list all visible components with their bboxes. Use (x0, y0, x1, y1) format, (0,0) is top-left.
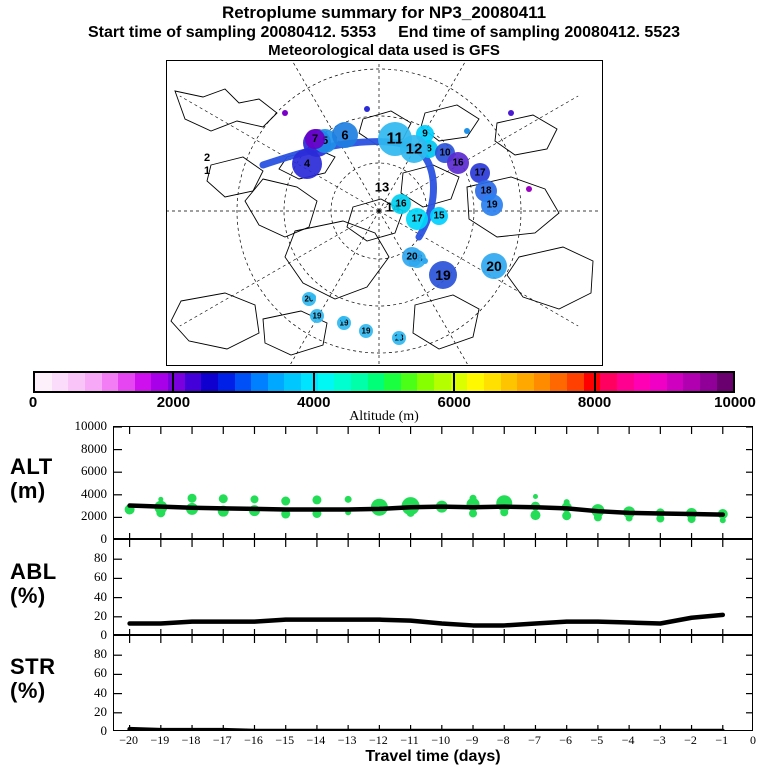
str-plot-panel[interactable] (113, 635, 753, 731)
map-day-label: 7 (312, 133, 318, 145)
colorbar-cell (534, 373, 551, 391)
sampling-times: Start time of sampling 20080412. 5353End… (0, 23, 768, 42)
alt-spread-marker (500, 508, 508, 516)
colorbar-separator (313, 371, 315, 393)
colorbar-cell (35, 373, 52, 391)
x-tick-label: −8 (497, 733, 510, 748)
x-tick-label: −6 (559, 733, 572, 748)
y-tick-label: 60 (45, 569, 107, 585)
alt-spread-marker (626, 514, 633, 521)
alt-spread-marker (188, 494, 197, 503)
colorbar-cell (467, 373, 484, 391)
x-tick-label: −14 (307, 733, 326, 748)
map-residue-dot (508, 110, 514, 116)
colorbar-cell (401, 373, 418, 391)
map-day-label: 17 (411, 214, 423, 225)
colorbar-cell (318, 373, 335, 391)
map-residue-dot (396, 334, 402, 340)
alt-plot-panel[interactable] (113, 426, 753, 539)
y-tick-label: 40 (45, 589, 107, 605)
x-tick-label: −10 (431, 733, 450, 748)
map-residue-dot (282, 110, 288, 116)
alt-spread-marker (312, 495, 321, 504)
y-tick-label: 20 (45, 608, 107, 624)
map-day-label: 4 (304, 158, 311, 170)
page-title: Retroplume summary for NP3_20080411 (0, 3, 768, 23)
alt-spread-marker (469, 509, 477, 517)
colorbar-cell (118, 373, 135, 391)
x-tick-label: −15 (275, 733, 294, 748)
map-day-label: 16 (452, 158, 464, 169)
y-tick-label: 60 (45, 665, 107, 681)
colorbar-cell (584, 373, 601, 391)
colorbar-cell (351, 373, 368, 391)
x-tick-label: −13 (338, 733, 357, 748)
y-tick-label: 40 (45, 685, 107, 701)
alt-spread-marker (281, 497, 290, 506)
colorbar-cell (600, 373, 617, 391)
alt-spread-marker (530, 510, 540, 520)
y-tick-label: 6000 (45, 463, 107, 479)
colorbar-cell (334, 373, 351, 391)
x-tick-label: 0 (750, 733, 756, 748)
y-tick-label: 20 (45, 704, 107, 720)
colorbar-title: Altitude (m) (0, 409, 768, 425)
y-tick-label: 4000 (45, 486, 107, 502)
colorbar-cell (85, 373, 102, 391)
y-tick-label: 0 (45, 627, 107, 643)
colorbar-cell (700, 373, 717, 391)
colorbar-cell (235, 373, 252, 391)
colorbar-separator (172, 371, 174, 393)
x-tick-label: −4 (622, 733, 635, 748)
map-day-label: 19 (313, 312, 322, 321)
colorbar-cell (417, 373, 434, 391)
y-tick-label: 0 (45, 531, 107, 547)
map-residue-dot (464, 128, 470, 134)
alt-spread-marker (156, 508, 165, 517)
colorbar-cell (617, 373, 634, 391)
map-day-label: 13 (375, 180, 389, 195)
map-day-label: 12 (406, 141, 423, 158)
alt-plot-svg (114, 427, 753, 539)
x-tick-label: −12 (369, 733, 388, 748)
colorbar-cell (151, 373, 168, 391)
alt-spread-marker (564, 499, 570, 505)
map-residue-dot (422, 258, 428, 264)
alt-spread-marker (345, 496, 352, 503)
colorbar-cell (102, 373, 119, 391)
colorbar-separator (594, 371, 596, 393)
abl-line (130, 615, 723, 626)
end-time-label: End time of sampling 20080412. 5523 (398, 24, 680, 41)
x-tick-label: −7 (528, 733, 541, 748)
alt-spread-marker (470, 495, 477, 502)
y-tick-label: 80 (45, 550, 107, 566)
map-residue-dot (340, 316, 346, 322)
map-svg: 1234567891011121314151617181920191817162… (167, 61, 601, 364)
y-tick-label: 80 (45, 646, 107, 662)
map-day-label: 16 (395, 199, 407, 210)
y-tick-label: 10000 (45, 418, 107, 434)
retroplume-map[interactable]: 1234567891011121314151617181920191817162… (166, 60, 603, 366)
alt-spread-marker (219, 494, 228, 503)
colorbar-separator (453, 371, 455, 393)
alt-spread-marker (533, 494, 538, 499)
str-line (130, 729, 723, 731)
alt-spread-marker (250, 495, 258, 503)
map-day-label: 19 (486, 200, 498, 211)
colorbar-cell (68, 373, 85, 391)
x-tick-label: −20 (119, 733, 138, 748)
colorbar-cell (434, 373, 451, 391)
abl-plot-svg (114, 540, 753, 635)
colorbar-cell (52, 373, 69, 391)
colorbar-cell (683, 373, 700, 391)
colorbar-cell (550, 373, 567, 391)
colorbar-cell (667, 373, 684, 391)
colorbar-cell (168, 373, 185, 391)
colorbar-cell (301, 373, 318, 391)
x-tick-label: −17 (213, 733, 232, 748)
map-day-label: 20 (406, 252, 418, 263)
alt-spread-marker (720, 517, 726, 523)
colorbar-cell (484, 373, 501, 391)
colorbar-cell (218, 373, 235, 391)
str-plot-svg (114, 636, 753, 731)
x-tick-label: −18 (182, 733, 201, 748)
map-residue-dot (526, 186, 532, 192)
alt-spread-marker (594, 513, 602, 521)
colorbar-cell (634, 373, 651, 391)
x-tick-label: −1 (715, 733, 728, 748)
start-time-label: Start time of sampling 20080412. 5353 (88, 24, 376, 41)
map-residue-dot (364, 106, 370, 112)
colorbar-cell (650, 373, 667, 391)
alt-spread-marker (562, 511, 571, 520)
colorbar-cell (517, 373, 534, 391)
colorbar-cell (368, 373, 385, 391)
map-day-label: 2 (204, 152, 210, 164)
map-day-label: 17 (474, 168, 486, 179)
altitude-colorbar[interactable] (33, 371, 735, 393)
x-tick-label: −5 (591, 733, 604, 748)
x-tick-label: −19 (150, 733, 169, 748)
colorbar-cell (717, 373, 734, 391)
x-tick-label: −3 (653, 733, 666, 748)
colorbar-cell (268, 373, 285, 391)
y-tick-label: 2000 (45, 508, 107, 524)
y-tick-label: 0 (45, 723, 107, 739)
map-day-label: 20 (486, 258, 502, 274)
colorbar-cell (251, 373, 268, 391)
colorbar-cell (135, 373, 152, 391)
map-day-label: 9 (422, 129, 428, 140)
x-tick-label: −11 (400, 733, 418, 748)
map-residue-dot (310, 294, 316, 300)
xaxis-title: Travel time (days) (113, 748, 753, 766)
colorbar-cell (201, 373, 218, 391)
abl-plot-panel[interactable] (113, 539, 753, 635)
alt-spread-marker (407, 509, 415, 517)
colorbar-cell (284, 373, 301, 391)
y-tick-label: 8000 (45, 441, 107, 457)
map-day-label: 19 (362, 327, 371, 336)
map-day-label: 1 (204, 165, 210, 177)
map-day-label: 6 (341, 128, 348, 143)
colorbar-cell (185, 373, 202, 391)
colorbar-cell (384, 373, 401, 391)
x-tick-label: −9 (466, 733, 479, 748)
colorbar-cell (501, 373, 518, 391)
x-tick-label: −16 (244, 733, 263, 748)
colorbar-cell (567, 373, 584, 391)
header-block: Retroplume summary for NP3_20080411 Star… (0, 0, 768, 60)
map-day-label: 19 (435, 267, 451, 283)
map-day-label: 15 (433, 211, 445, 222)
x-tick-label: −2 (684, 733, 697, 748)
met-data-label: Meteorological data used is GFS (0, 42, 768, 60)
